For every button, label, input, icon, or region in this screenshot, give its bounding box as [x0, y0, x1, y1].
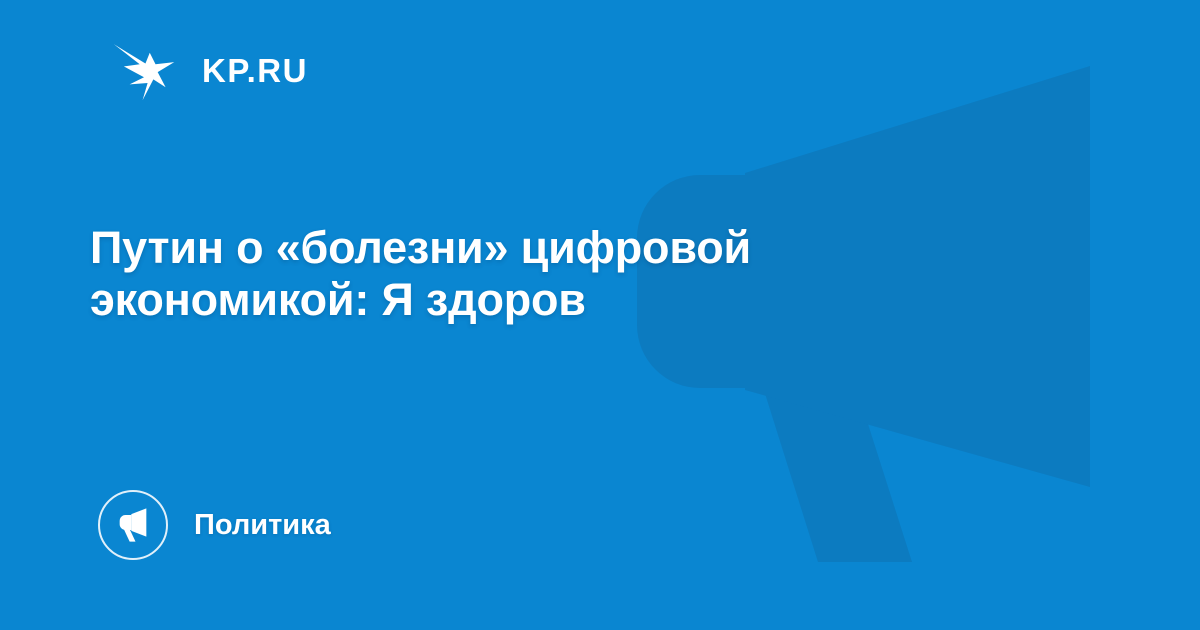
site-brand[interactable]: KP.RU — [108, 33, 308, 107]
swallow-bird-icon — [108, 34, 180, 106]
share-card: KP.RU Путин о «болезни» цифровой экономи… — [0, 0, 1200, 630]
category-badge[interactable]: Политика — [98, 487, 331, 563]
category-label: Политика — [194, 511, 331, 540]
page-title: Путин о «болезни» цифровой экономикой: Я… — [90, 222, 990, 326]
brand-wordmark: KP.RU — [202, 54, 308, 87]
megaphone-icon — [98, 490, 168, 560]
